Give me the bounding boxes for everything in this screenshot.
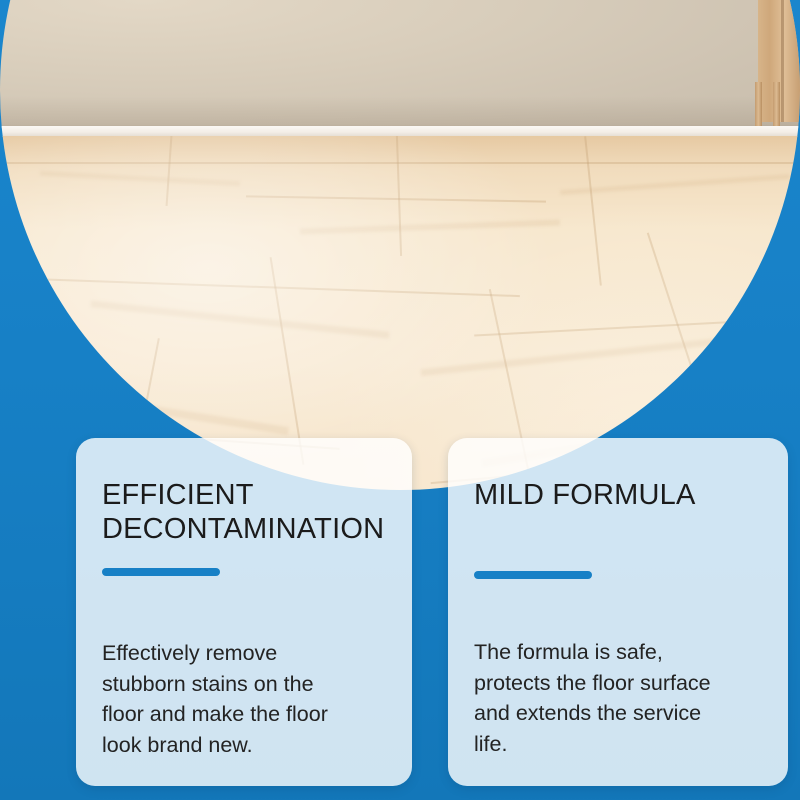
cabinet-edge <box>781 0 784 122</box>
card-title: EFFICIENT DECONTAMINATION <box>102 478 386 546</box>
wall-shadow <box>0 96 800 130</box>
circular-photo-panel <box>0 0 800 490</box>
card-title: MILD FORMULA <box>474 478 762 512</box>
wood-floor <box>0 136 800 490</box>
accent-rule <box>474 571 592 579</box>
room-photo <box>0 0 800 490</box>
furniture-leg-left <box>755 82 762 130</box>
promo-canvas: EFFICIENT DECONTAMINATION Effectively re… <box>0 0 800 800</box>
card-body-text: The formula is safe, protects the floor … <box>474 637 762 759</box>
card-body-text: Effectively remove stubborn stains on th… <box>102 638 386 760</box>
furniture-leg-right <box>773 82 780 130</box>
feature-card-mild-formula[interactable]: MILD FORMULA The formula is safe, protec… <box>448 438 788 786</box>
accent-rule <box>102 568 220 576</box>
feature-card-efficient-decontamination[interactable]: EFFICIENT DECONTAMINATION Effectively re… <box>76 438 412 786</box>
